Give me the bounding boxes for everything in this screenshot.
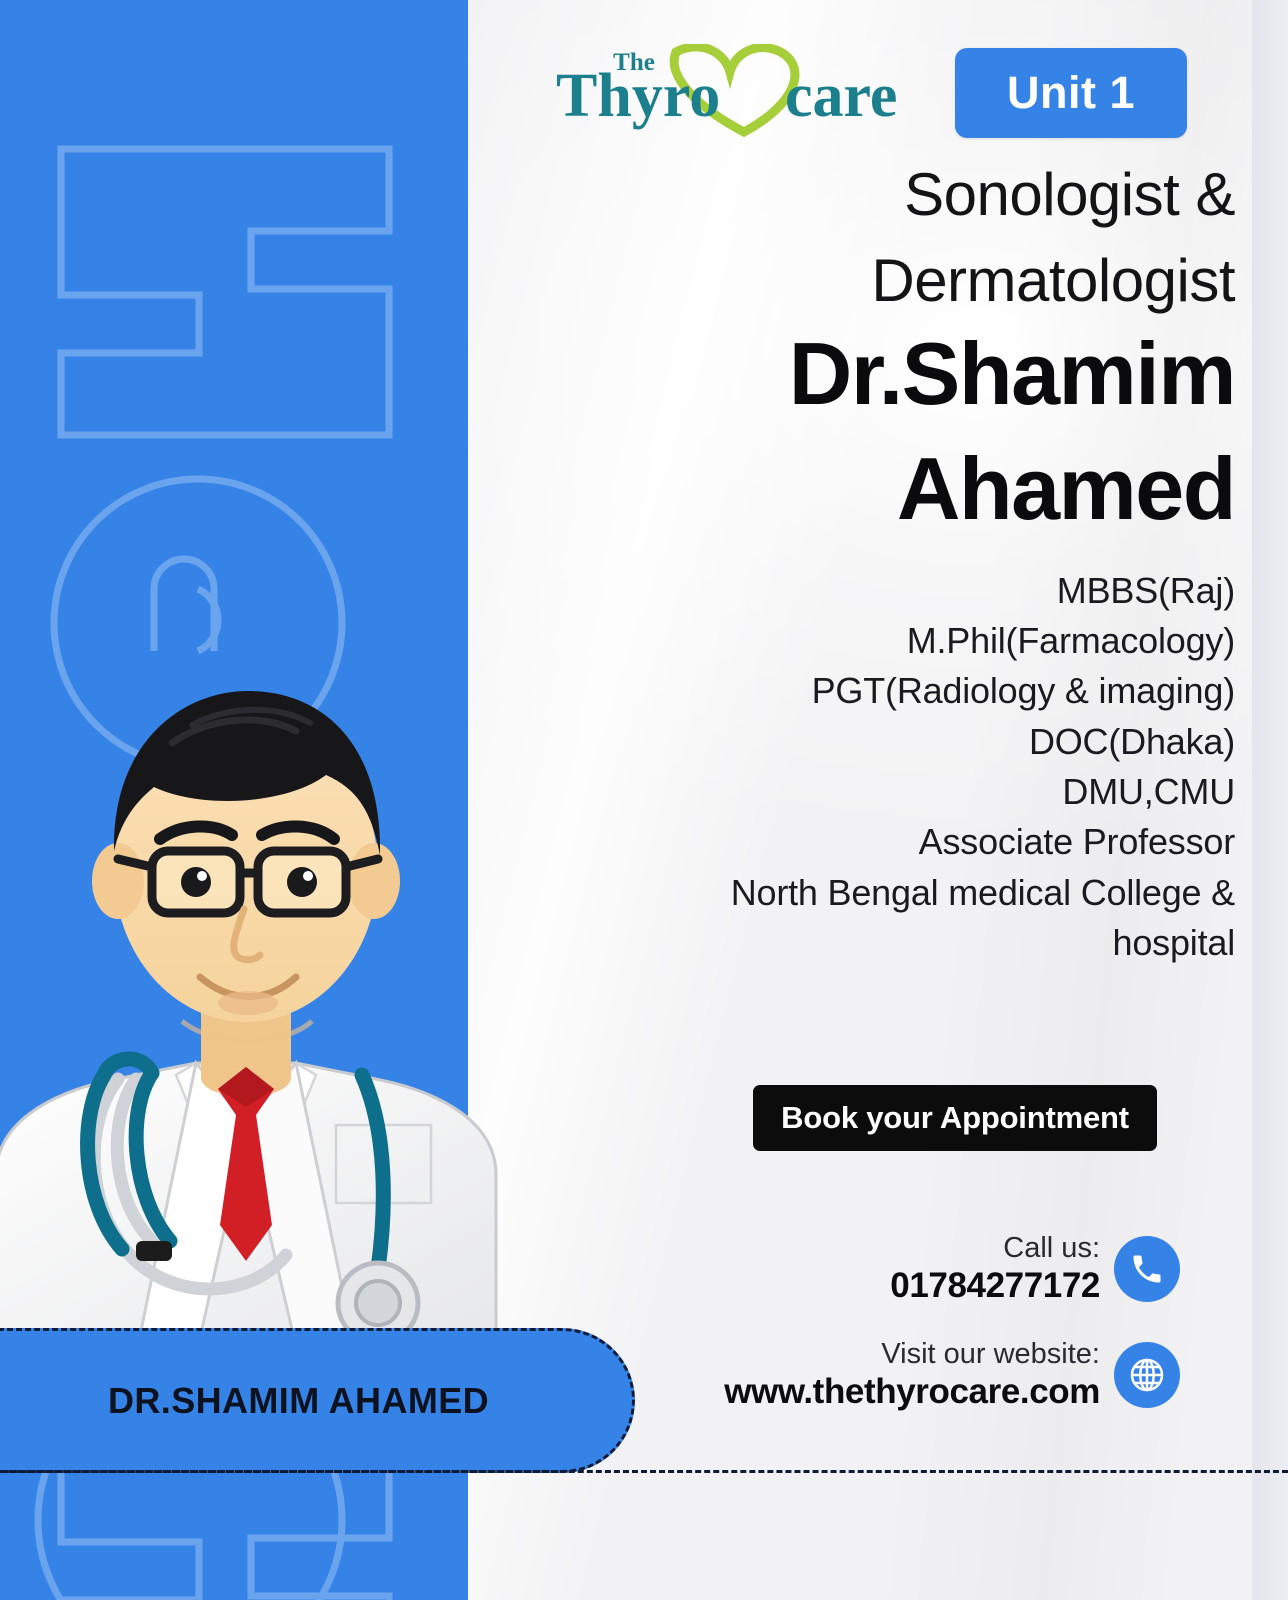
book-appointment-button[interactable]: Book your Appointment: [753, 1085, 1157, 1151]
poster-root: The Thyro care Unit 1 Sonologist & Derma…: [0, 0, 1288, 1600]
credential-item: North Bengal medical College & hospital: [600, 868, 1235, 969]
svg-text:care: care: [785, 62, 897, 130]
call-label: Call us:: [890, 1232, 1100, 1266]
credential-item: PGT(Radiology & imaging): [600, 666, 1235, 716]
dashed-divider: [0, 1470, 1288, 1473]
contact-block: Call us: 01784277172 Visit our website: …: [720, 1232, 1180, 1412]
doctor-info-column: Sonologist & Dermatologist Dr.Shamim Aha…: [600, 165, 1235, 969]
credential-item: MBBS(Raj): [600, 566, 1235, 616]
credential-item: DOC(Dhaka): [600, 717, 1235, 767]
phone-number: 01784277172: [890, 1266, 1100, 1307]
phone-handset-icon: [1129, 1251, 1165, 1287]
website-row[interactable]: Visit our website: www.thethyrocare.com: [720, 1338, 1180, 1412]
phone-icon[interactable]: [1114, 1236, 1180, 1302]
brand-logo: The Thyro care: [548, 44, 908, 139]
website-text: Visit our website: www.thethyrocare.com: [724, 1338, 1100, 1412]
banner-name-text: DR.SHAMIM AHAMED: [108, 1380, 489, 1422]
specialty-line-1: Sonologist &: [904, 161, 1235, 228]
globe-world-icon: [1127, 1355, 1167, 1395]
thyrocare-logo-icon: The Thyro care: [548, 44, 908, 139]
svg-text:Thyro: Thyro: [556, 62, 720, 130]
doctor-name-line-2: Ahamed: [600, 442, 1235, 535]
doctor-illustration: [0, 655, 506, 1355]
phone-text: Call us: 01784277172: [890, 1232, 1100, 1306]
unit-badge[interactable]: Unit 1: [955, 48, 1187, 138]
specialty-line-2: Dermatologist: [600, 251, 1235, 311]
credential-item: DMU,CMU: [600, 767, 1235, 817]
website-label: Visit our website:: [724, 1338, 1100, 1372]
credential-item: Associate Professor: [600, 817, 1235, 867]
doctor-name: Dr.Shamim Ahamed: [600, 327, 1235, 536]
doctor-name-banner: DR.SHAMIM AHAMED: [0, 1328, 635, 1473]
doctor-name-line-1: Dr.Shamim: [789, 324, 1235, 423]
credentials-list: MBBS(Raj) M.Phil(Farmacology) PGT(Radiol…: [600, 566, 1235, 969]
globe-icon[interactable]: [1114, 1342, 1180, 1408]
right-edge-strip: [1252, 0, 1288, 1600]
doctor-avatar-icon: [0, 655, 506, 1355]
phone-row[interactable]: Call us: 01784277172: [720, 1232, 1180, 1306]
website-url: www.thethyrocare.com: [724, 1372, 1100, 1413]
specialty-heading: Sonologist & Dermatologist: [600, 165, 1235, 311]
credential-item: M.Phil(Farmacology): [600, 616, 1235, 666]
letter-h-watermark-icon: [55, 143, 395, 441]
